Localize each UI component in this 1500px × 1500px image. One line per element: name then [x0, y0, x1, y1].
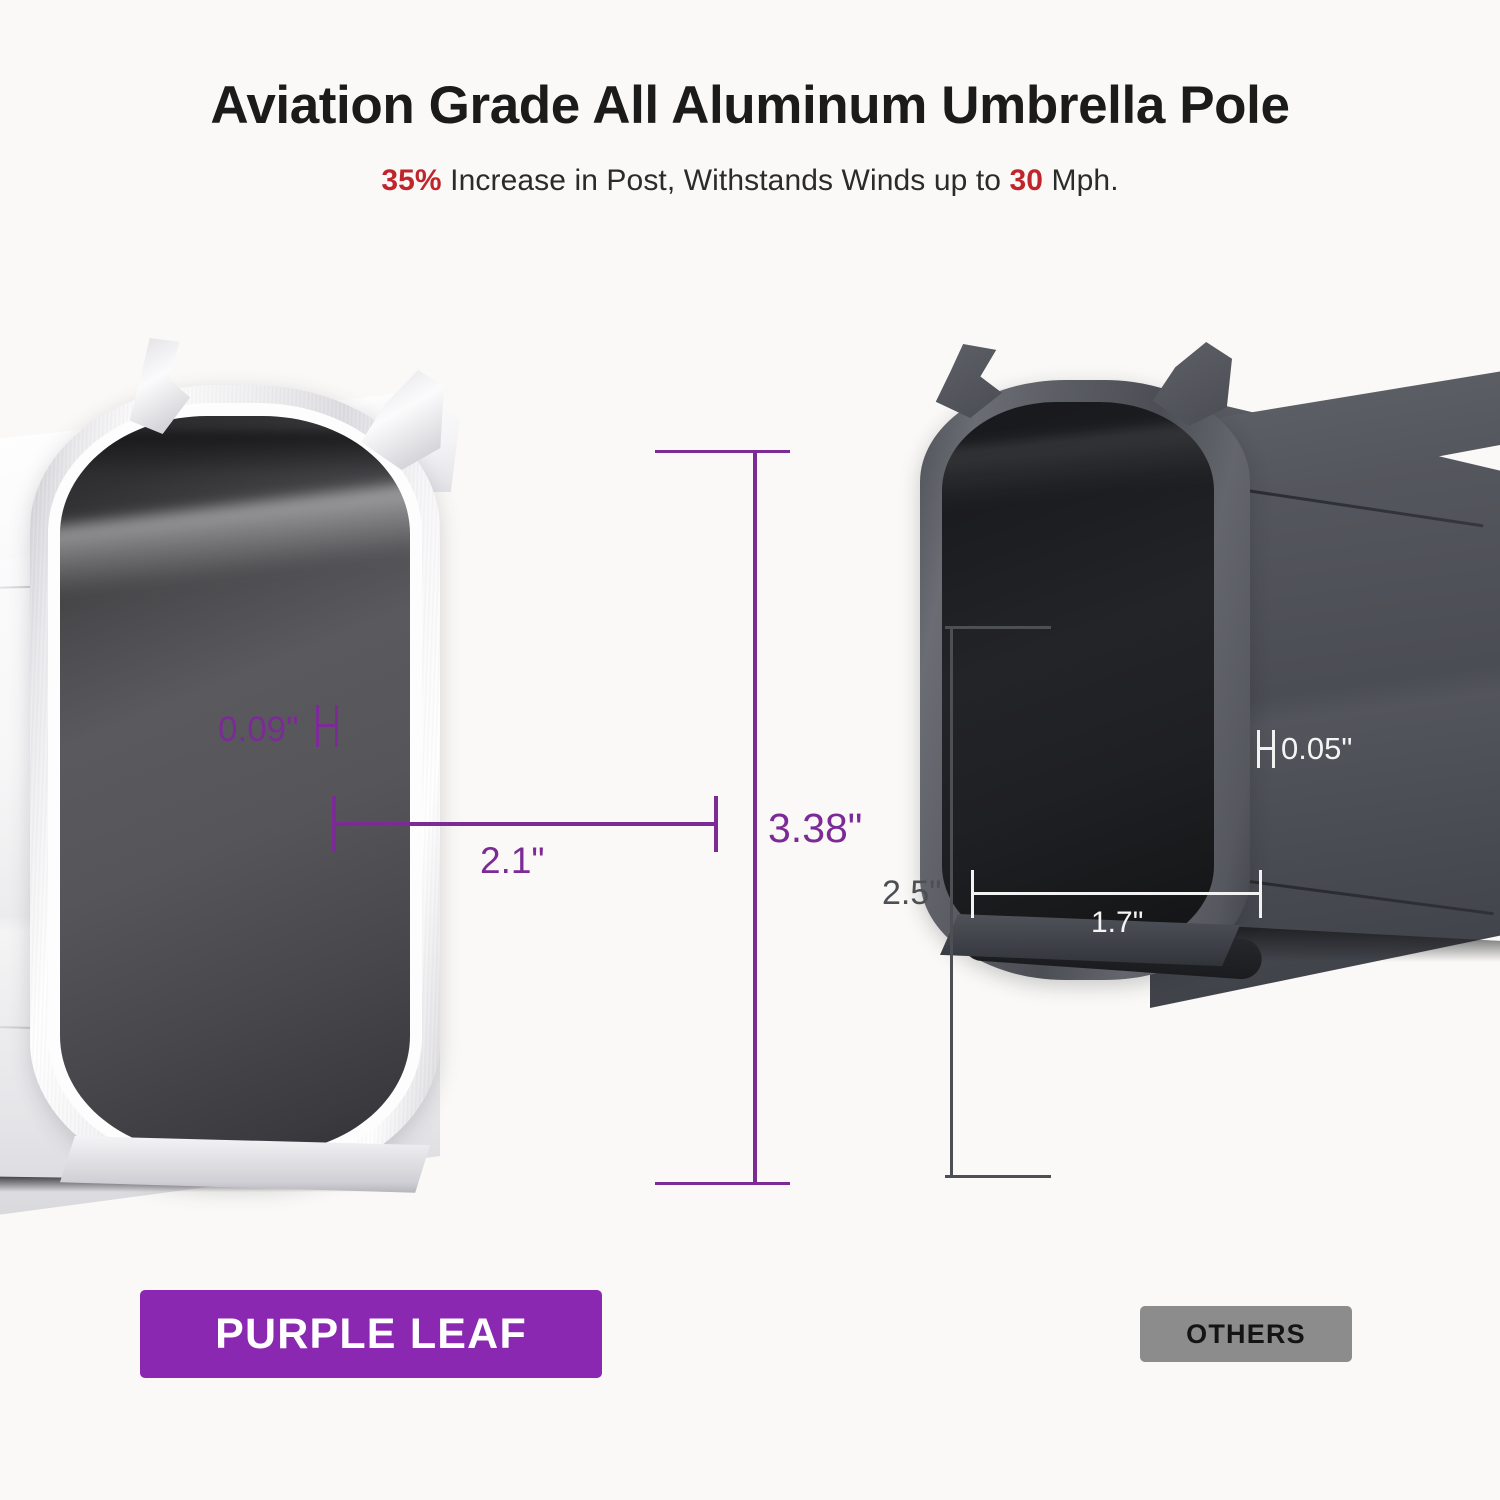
wall-thickness-label: 0.09" [218, 712, 299, 747]
height-dim-line [753, 450, 757, 1185]
height-dim-extension-top [655, 450, 790, 453]
page-title: Aviation Grade All Aluminum Umbrella Pol… [0, 0, 1500, 135]
pole-hollow-interior [60, 416, 410, 1154]
width-dim-line [333, 822, 718, 826]
width-dim-tick-left [332, 796, 336, 852]
others-wall-thickness-label: 0.05" [1281, 733, 1352, 764]
others-width-dim-label: 1.7" [1091, 908, 1143, 938]
header: Aviation Grade All Aluminum Umbrella Pol… [0, 0, 1500, 198]
stat-wind-speed: 30 [1010, 164, 1044, 197]
others-width-dim-tick-left [971, 870, 974, 918]
others-width-dim-line [972, 892, 1262, 895]
badge-others: OTHERS [1140, 1306, 1352, 1362]
others-width-dim-tick-right [1259, 870, 1262, 918]
badge-purple-leaf: PURPLE LEAF [140, 1290, 602, 1378]
wall-bracket-right [335, 705, 338, 747]
others-height-dim-label: 2.5" [882, 876, 941, 910]
comparison-stage: 3.38" 2.1" 0.09" 2.5" 1.7" 0.05" [0, 330, 1500, 1250]
others-height-dim-extension-bottom [945, 1175, 1051, 1178]
others-height-dim-extension-top [945, 626, 1051, 629]
product-infographic: Aviation Grade All Aluminum Umbrella Pol… [0, 0, 1500, 1500]
height-dim-extension-bottom [655, 1182, 790, 1185]
others-height-dim-line [950, 626, 953, 1178]
subtitle-mid: Increase in Post, Withstands Winds up to [442, 164, 1010, 197]
brand-badges: PURPLE LEAF OTHERS [0, 1280, 1500, 1390]
width-dim-label: 2.1" [480, 842, 545, 879]
others-wall-bracket-right [1272, 730, 1275, 768]
subtitle-end: Mph. [1043, 164, 1119, 197]
others-pole-illustration [900, 330, 1500, 1230]
height-dim-label: 3.38" [768, 808, 862, 849]
subtitle: 35% Increase in Post, Withstands Winds u… [0, 135, 1500, 198]
stat-increase: 35% [381, 164, 441, 197]
width-dim-tick-right [714, 796, 718, 852]
pole-hollow-interior [942, 402, 1214, 954]
purple-leaf-pole-illustration [0, 330, 780, 1230]
